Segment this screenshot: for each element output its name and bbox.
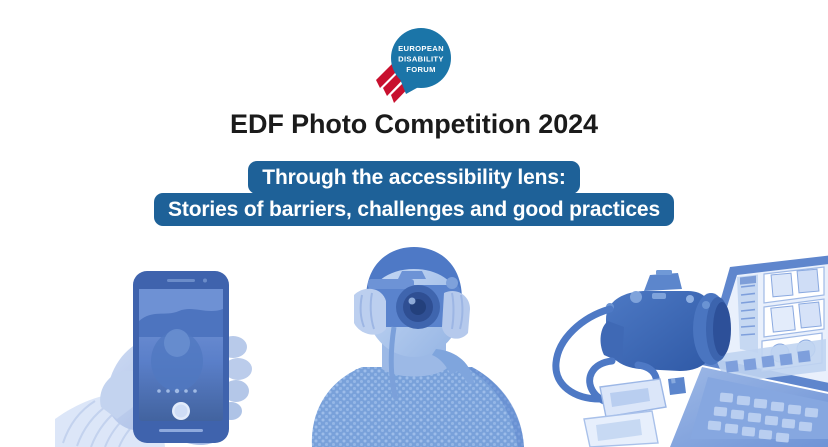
mode-dial	[630, 291, 642, 303]
logo-line-3: FORUM	[406, 65, 436, 74]
photo-person-with-camera	[286, 243, 548, 447]
dslr-camera	[601, 270, 731, 371]
european-disability-forum-logo: EUROPEAN DISABILITY FORUM	[366, 22, 462, 106]
lens-front-element	[713, 302, 731, 356]
logo-line-2: DISABILITY	[398, 55, 444, 64]
subtitle-line-1: Through the accessibility lens:	[248, 161, 579, 194]
shutter-release	[686, 295, 694, 303]
earpiece	[167, 279, 195, 282]
camera-grip	[601, 321, 624, 363]
home-indicator	[159, 429, 203, 432]
lens-highlight	[409, 298, 416, 305]
photo-camera-and-laptop	[548, 243, 828, 447]
page-title: EDF Photo Competition 2024	[0, 110, 828, 140]
camera-top-plate	[368, 279, 414, 289]
logo-line-1: EUROPEAN	[398, 44, 444, 53]
subtitle-line-2: Stories of barriers, challenges and good…	[154, 193, 674, 226]
subtitle-block: Through the accessibility lens: Stories …	[0, 162, 828, 226]
camera-prism-hump	[644, 273, 682, 291]
photo-strip	[0, 243, 828, 447]
top-lcd	[652, 293, 666, 299]
printed-photos	[584, 379, 666, 447]
hot-shoe	[656, 270, 672, 275]
right-hand	[442, 291, 470, 339]
photo-hand-holding-smartphone	[55, 243, 305, 447]
sd-memory-card	[668, 377, 686, 395]
logo-container: EUROPEAN DISABILITY FORUM	[0, 22, 828, 106]
camera-prism	[398, 271, 426, 279]
shutter-dial	[446, 277, 458, 289]
front-camera-lens	[203, 279, 207, 283]
poster-canvas: EUROPEAN DISABILITY FORUM EDF Photo Comp…	[0, 0, 828, 447]
